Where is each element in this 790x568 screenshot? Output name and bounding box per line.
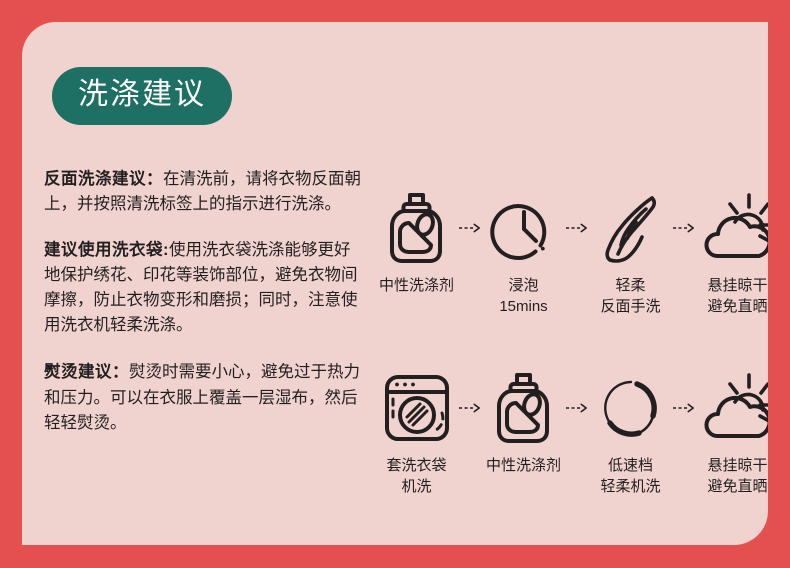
flow-step-label: 浸泡 15mins bbox=[499, 275, 547, 318]
dashed-arrow-icon bbox=[566, 187, 588, 269]
advice-paragraph-ironing: 熨烫建议：熨烫时需要小心，避免过于热力和压力。可以在衣服上覆盖一层湿布，然后轻轻… bbox=[44, 360, 364, 435]
paragraph-lead-label: 熨烫建议： bbox=[44, 363, 129, 381]
paragraph-lead-label: 建议使用洗衣袋: bbox=[44, 241, 169, 259]
dashed-arrow-icon bbox=[673, 187, 695, 269]
advice-paragraph-reverse-wash: 反面洗涤建议：在清洗前，请将衣物反面朝上，并按照清洗标签上的指示进行洗涤。 bbox=[44, 167, 364, 217]
dashed-arrow-icon bbox=[673, 367, 695, 449]
page-title: 洗涤建议 bbox=[78, 78, 206, 111]
flow-step: 中性洗涤剂 bbox=[374, 187, 459, 296]
flow-step: 轻柔 反面手洗 bbox=[588, 187, 673, 318]
dashed-arrow-icon bbox=[566, 367, 588, 449]
paragraph-lead-label: 反面洗涤建议： bbox=[44, 170, 163, 188]
flow-step-label: 轻柔 反面手洗 bbox=[600, 275, 660, 318]
page-title-badge: 洗涤建议 bbox=[52, 67, 232, 125]
flow-step-label: 悬挂晾干 避免直晒 bbox=[707, 455, 767, 498]
care-instructions-card: 洗涤建议 反面洗涤建议：在清洗前，请将衣物反面朝上，并按照清洗标签上的指示进行洗… bbox=[22, 22, 768, 545]
flow-step-label: 低速档 轻柔机洗 bbox=[600, 455, 660, 498]
dashed-arrow-icon bbox=[459, 187, 481, 269]
machine-wash-flow: 套洗衣袋 机洗 中性洗涤剂 bbox=[374, 367, 768, 498]
washing-machine-icon bbox=[376, 367, 458, 449]
spin-cycle-icon bbox=[590, 367, 672, 449]
detergent-bottle-icon bbox=[483, 367, 565, 449]
advice-paragraph-laundry-bag: 建议使用洗衣袋:使用洗衣袋洗涤能够更好地保护绣花、印花等装饰部位，避免衣物间摩擦… bbox=[44, 238, 364, 338]
hand-wash-flow: 中性洗涤剂 浸泡 15mins bbox=[374, 187, 768, 318]
flow-step-label: 中性洗涤剂 bbox=[486, 455, 561, 476]
flow-step-label: 悬挂晾干 避免直晒 bbox=[707, 275, 767, 318]
flow-step: 悬挂晾干 避免直晒 bbox=[695, 187, 768, 318]
flow-step: 中性洗涤剂 bbox=[481, 367, 566, 476]
detergent-bottle-icon bbox=[376, 187, 458, 269]
advice-text-column: 反面洗涤建议：在清洗前，请将衣物反面朝上，并按照清洗标签上的指示进行洗涤。 建议… bbox=[44, 167, 364, 436]
flow-step: 低速档 轻柔机洗 bbox=[588, 367, 673, 498]
flow-step-label: 中性洗涤剂 bbox=[379, 275, 454, 296]
dashed-arrow-icon bbox=[459, 367, 481, 449]
flow-step: 套洗衣袋 机洗 bbox=[374, 367, 459, 498]
flow-step: 悬挂晾干 避免直晒 bbox=[695, 367, 768, 498]
clock-icon bbox=[483, 187, 565, 269]
sun-cloud-icon bbox=[697, 187, 769, 269]
flow-step: 浸泡 15mins bbox=[481, 187, 566, 318]
sun-cloud-icon bbox=[697, 367, 769, 449]
hand-icon bbox=[590, 187, 672, 269]
flow-step-label: 套洗衣袋 机洗 bbox=[386, 455, 446, 498]
